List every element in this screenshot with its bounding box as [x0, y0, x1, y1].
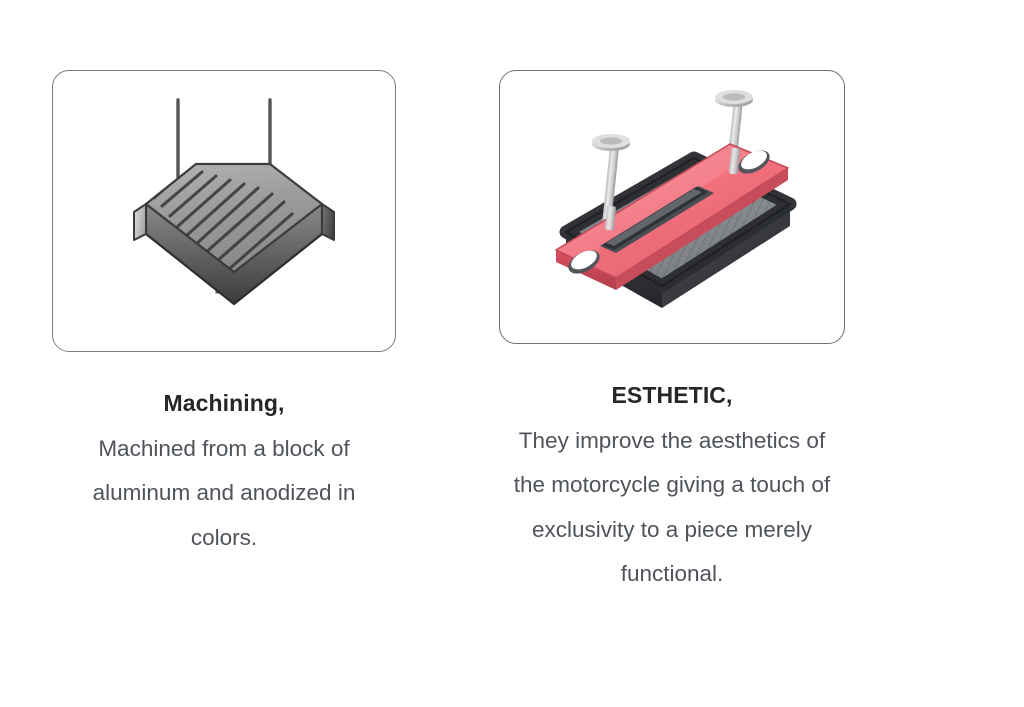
feature-cards-page: Machining, Machined from a block of alum… [0, 0, 1024, 707]
feature-body-esthetic: They improve the aesthetics of the motor… [502, 410, 842, 597]
icon-card-esthetic[interactable] [499, 70, 845, 344]
feature-column-machining: Machining, Machined from a block of alum… [0, 0, 448, 560]
icon-card-machining[interactable] [52, 70, 396, 352]
feature-heading-machining: Machining, [163, 352, 284, 418]
feature-grid: Machining, Machined from a block of alum… [0, 0, 896, 707]
anodized-plate-product-icon [522, 86, 822, 328]
cnc-milling-icon [74, 86, 374, 336]
feature-heading-esthetic: ESTHETIC, [611, 344, 732, 410]
feature-column-esthetic: ESTHETIC, They improve the aesthetics of… [448, 0, 896, 597]
feature-body-machining: Machined from a block of aluminum and an… [59, 418, 389, 561]
